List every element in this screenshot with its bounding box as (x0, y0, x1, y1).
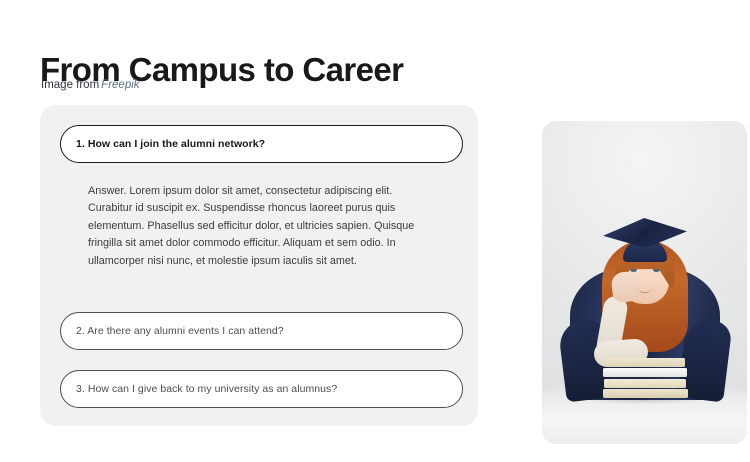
book-4 (603, 389, 688, 398)
graduate-photo (542, 121, 747, 444)
image-credit-prefix: Image from (41, 79, 99, 91)
page-content: From Campus to Career Image fromFreepik … (0, 0, 750, 462)
accordion-gap-1 (60, 270, 463, 312)
book-3 (604, 379, 686, 388)
accordion-header-2[interactable]: 2. Are there any alumni events I can att… (60, 312, 463, 350)
book-stack (603, 356, 687, 398)
accordion: 1. How can I join the alumni network? An… (60, 125, 463, 408)
accordion-answer-1: Answer. Lorem ipsum dolor sit amet, cons… (60, 163, 463, 270)
accordion-question-1: 1. How can I join the alumni network? (76, 138, 265, 151)
accordion-item-2: 2. Are there any alumni events I can att… (60, 312, 463, 350)
accordion-item-3: 3. How can I give back to my university … (60, 370, 463, 408)
freepik-link[interactable]: Freepik (101, 79, 139, 91)
accordion-header-1[interactable]: 1. How can I join the alumni network? (60, 125, 463, 163)
accordion-gap-2 (60, 350, 463, 370)
image-credit: Image fromFreepik (41, 79, 140, 93)
accordion-question-3: 3. How can I give back to my university … (76, 383, 337, 396)
mouth (638, 288, 651, 293)
accordion-item-1: 1. How can I join the alumni network? An… (60, 125, 463, 270)
accordion-header-3[interactable]: 3. How can I give back to my university … (60, 370, 463, 408)
book-2 (603, 368, 687, 377)
accordion-question-2: 2. Are there any alumni events I can att… (76, 325, 284, 338)
hand (611, 271, 640, 304)
mortarboard-button (642, 229, 648, 235)
faq-panel: 1. How can I join the alumni network? An… (40, 105, 478, 426)
graduate-photo-card (542, 121, 747, 444)
book-1 (605, 358, 685, 367)
